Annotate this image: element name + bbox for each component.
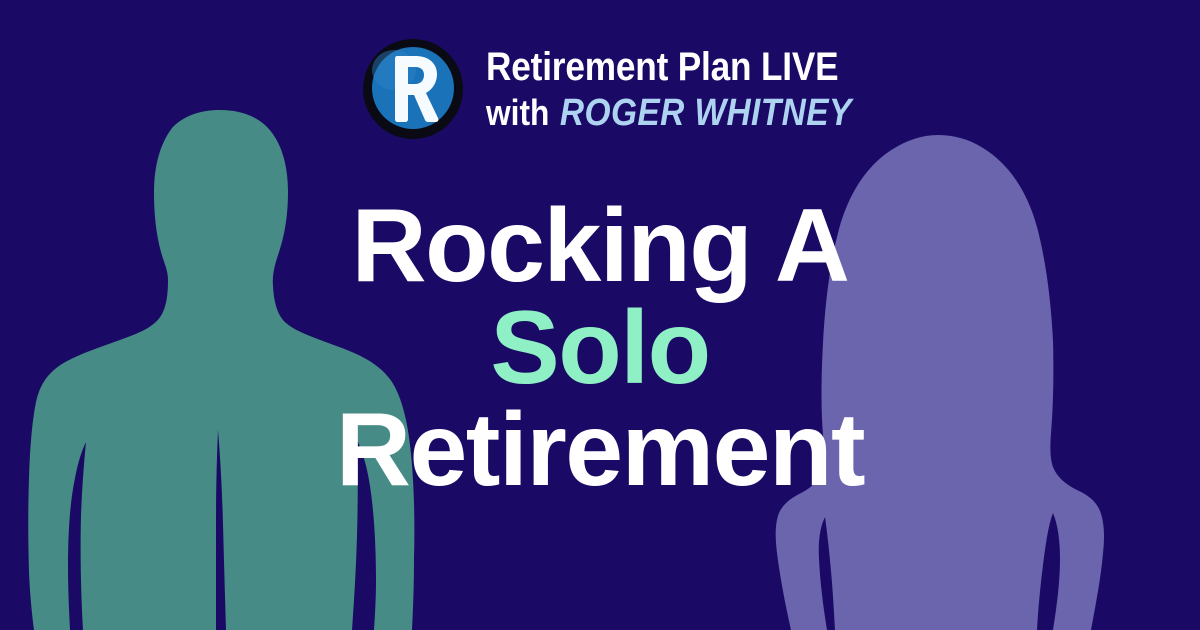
with-label: with	[486, 95, 549, 131]
male-silhouette	[20, 110, 420, 630]
headline-line-1: Rocking A	[0, 196, 1200, 298]
show-host-line: with ROGER WHITNEY	[486, 94, 852, 132]
roger-r-circle-logo-icon	[362, 38, 464, 140]
female-silhouette-path	[776, 135, 1104, 630]
female-silhouette	[775, 135, 1105, 630]
male-silhouette-path	[28, 110, 414, 630]
podcast-cover-canvas: Retirement Plan LIVE with ROGER WHITNEY …	[0, 0, 1200, 630]
show-title: Retirement Plan LIVE	[486, 47, 852, 87]
headline-line-3: Retirement	[0, 400, 1200, 502]
headline-block: Rocking A Solo Retirement	[0, 196, 1200, 502]
brand-text-block: Retirement Plan LIVE with ROGER WHITNEY	[486, 47, 902, 132]
headline-line-2: Solo	[0, 298, 1200, 400]
host-name: ROGER WHITNEY	[560, 94, 852, 132]
brand-lockup: Retirement Plan LIVE with ROGER WHITNEY	[362, 38, 902, 140]
